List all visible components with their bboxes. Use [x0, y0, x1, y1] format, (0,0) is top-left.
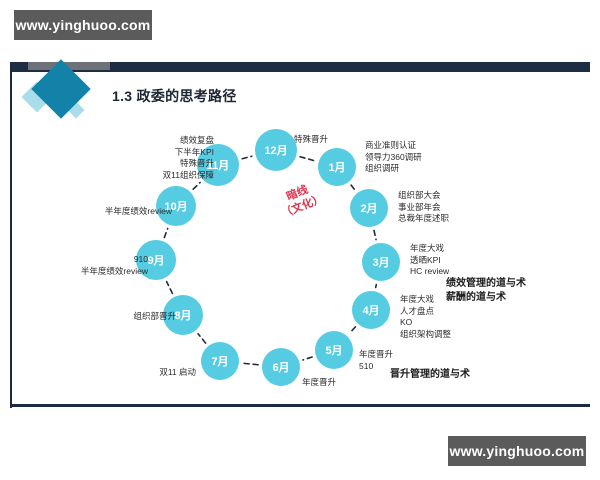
cycle-node-m1[interactable]: 1月 [318, 148, 356, 186]
cycle-node-m4[interactable]: 4月 [352, 291, 390, 329]
cycle-link-11-12 [242, 156, 252, 158]
cycle-link-5-6 [303, 357, 312, 360]
cycle-node-m5[interactable]: 5月 [315, 331, 353, 369]
cycle-node-m2[interactable]: 2月 [350, 189, 388, 227]
cycle-link-2-3 [374, 230, 376, 239]
cycle-connectors [0, 0, 600, 480]
cycle-note-m10: 半年度绩效review [86, 206, 172, 218]
cycle-link-3-4 [376, 285, 377, 288]
cycle-note-m7: 双11 启动 [126, 367, 196, 379]
cycle-node-m6[interactable]: 6月 [262, 348, 300, 386]
cycle-note-m6: 年度晋升 [302, 377, 372, 389]
cycle-node-m12[interactable]: 12月 [255, 129, 297, 171]
cycle-node-m3[interactable]: 3月 [362, 243, 400, 281]
caption-perf: 绩效管理的道与术 薪酬的道与术 [446, 277, 526, 305]
cycle-note-m2: 组织部大会 事业部年会 总裁年度述职 [398, 190, 498, 225]
cycle-link-4-5 [350, 327, 356, 333]
cycle-note-m3: 年度大戏 透晒KPI HC review [410, 243, 502, 278]
cycle-link-12-1 [300, 157, 315, 161]
cycle-link-1-2 [351, 185, 355, 190]
cycle-link-10-11 [193, 182, 200, 189]
caption-promotion: 晋升管理的道与术 [390, 368, 470, 382]
cycle-note-m11: 绩效复盘 下半年KPI 特殊晋升 双11组织保障 [122, 135, 214, 181]
cycle-note-m12: 特殊晋升 [294, 134, 364, 146]
cycle-link-8-9 [167, 282, 173, 294]
cycle-link-6-7 [243, 363, 258, 364]
slide-canvas: www.yinghuoo.com 1.3 政委的思考路径 1月2月3月4月5月6… [0, 0, 600, 480]
watermark-bottom: www.yinghuoo.com [448, 436, 586, 466]
cycle-link-7-8 [198, 334, 206, 343]
cycle-note-m1: 商业准则认证 领导力360调研 组织调研 [365, 140, 475, 175]
cycle-note-m8: 组织部晋升 [98, 311, 176, 323]
cycle-note-m9: 910 半年度绩效review [58, 254, 148, 277]
cycle-node-m7[interactable]: 7月 [201, 342, 239, 380]
cycle-link-9-10 [164, 229, 167, 238]
